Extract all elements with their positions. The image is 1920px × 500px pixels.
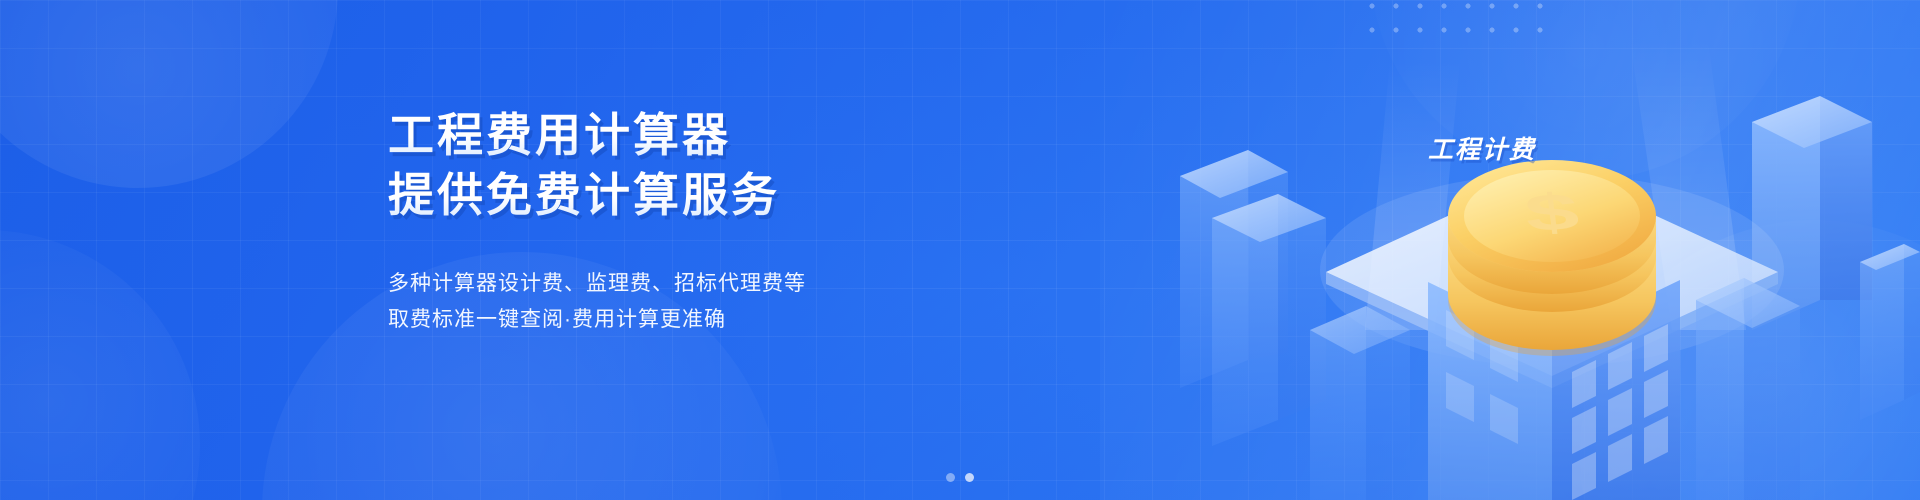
building-left-front	[1310, 306, 1410, 500]
gold-coin-stack: $	[1448, 160, 1656, 356]
headline-line-1: 工程费用计算器	[388, 108, 1028, 162]
decorative-circle-top-left	[0, 0, 338, 188]
banner-illustration: $ 工程计费	[1160, 0, 1920, 500]
carousel-pagination[interactable]	[946, 473, 974, 482]
headline-line-2: 提供免费计算服务	[388, 168, 1028, 222]
building-far-right-short	[1860, 244, 1920, 420]
pagination-dot-1[interactable]	[946, 473, 955, 482]
banner-subtitle: 多种计算器设计费、监理费、招标代理费等 取费标准一键查阅·费用计算更准确	[388, 266, 1028, 338]
pagination-dot-2[interactable]	[965, 473, 974, 482]
promo-banner: 工程费用计算器 提供免费计算服务 多种计算器设计费、监理费、招标代理费等 取费标…	[0, 0, 1920, 500]
subtitle-line-1: 多种计算器设计费、监理费、招标代理费等	[388, 266, 1028, 302]
illustration-badge-label: 工程计费	[1428, 130, 1536, 166]
subtitle-line-2: 取费标准一键查阅·费用计算更准确	[388, 302, 1028, 338]
building-right-front	[1696, 278, 1800, 500]
dollar-symbol-icon: $	[1521, 183, 1582, 243]
banner-copy: 工程费用计算器 提供免费计算服务 多种计算器设计费、监理费、招标代理费等 取费标…	[388, 108, 1028, 338]
decorative-circle-mid-left	[0, 230, 200, 500]
isometric-city-coin-illustration: $	[1160, 0, 1920, 500]
svg-text:$: $	[1521, 183, 1582, 243]
building-left-mid	[1212, 194, 1326, 446]
